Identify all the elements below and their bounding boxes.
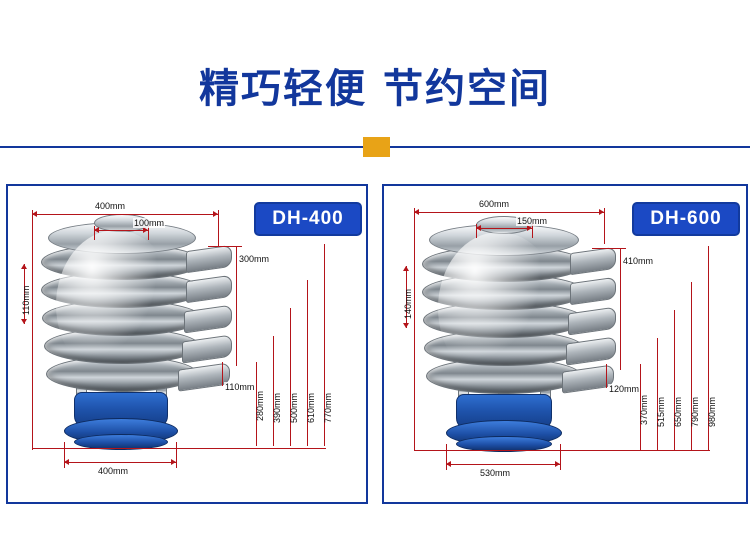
- dim-line-spout-height: [606, 364, 607, 388]
- dim-line-bottom-width: [446, 464, 560, 465]
- dim-label-top-outer: 600mm: [478, 199, 510, 209]
- dim-label-spout-height: 110mm: [224, 382, 255, 392]
- dim-line-top-inner: [94, 230, 148, 231]
- page-title: 精巧轻便 节约空间: [0, 56, 750, 114]
- dim-label-left-height: 140mm: [403, 288, 413, 320]
- dim-line-top-outer: [32, 214, 218, 215]
- header-divider-accent: [363, 137, 390, 157]
- dim-label-stack-5: 770mm: [323, 392, 333, 424]
- dim-label-top-outer: 400mm: [94, 201, 126, 211]
- dim-label-top-inner: 100mm: [133, 218, 165, 228]
- dim-label-spout-height: 120mm: [608, 384, 640, 394]
- dim-label-stack-1: 280mm: [255, 390, 265, 422]
- dim-line-bottom-width: [64, 462, 176, 463]
- product-panel-dh400: DH-400: [6, 184, 368, 504]
- dim-label-stack-4: 790mm: [690, 396, 700, 428]
- dim-label-deck-height: 410mm: [622, 256, 654, 266]
- dim-line-deck-height: [236, 246, 237, 366]
- model-badge-dh600: DH-600: [632, 202, 740, 236]
- dim-label-stack-5: 980mm: [707, 396, 717, 428]
- dim-label-top-inner: 150mm: [516, 216, 548, 226]
- model-badge-dh400: DH-400: [254, 202, 362, 236]
- dim-label-bottom-width: 400mm: [97, 466, 129, 476]
- dim-label-stack-4: 610mm: [306, 392, 316, 424]
- dim-label-stack-2: 390mm: [272, 392, 282, 424]
- product-panel-dh600: DH-600 600mm: [382, 184, 748, 504]
- dim-label-left-height: 110mm: [21, 285, 31, 316]
- dim-line-top-outer: [414, 212, 604, 213]
- dim-label-deck-height: 300mm: [238, 254, 270, 264]
- dim-line-top-inner: [476, 228, 532, 229]
- dim-label-stack-1: 370mm: [639, 394, 649, 426]
- dim-label-stack-3: 650mm: [673, 396, 683, 428]
- dim-line-spout-height: [222, 362, 223, 386]
- dim-label-stack-3: 500mm: [289, 392, 299, 424]
- page-root: 精巧轻便 节约空间 DH-400: [0, 0, 750, 534]
- dim-label-bottom-width: 530mm: [479, 468, 511, 478]
- dim-line-deck-height: [620, 248, 621, 370]
- dim-label-stack-2: 515mm: [656, 396, 666, 428]
